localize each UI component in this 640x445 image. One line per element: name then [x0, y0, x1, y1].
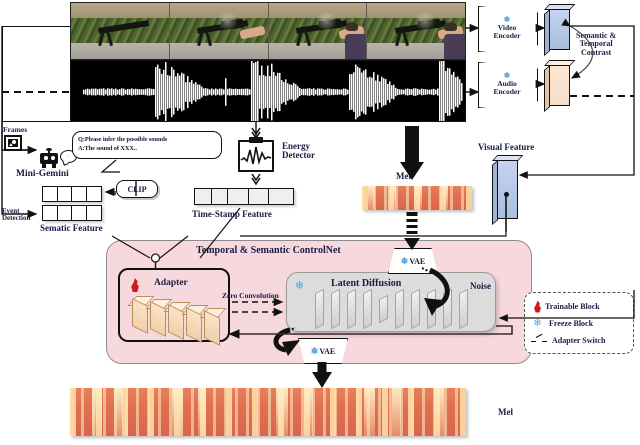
flame-icon: [130, 278, 140, 292]
audio-encoder-label-2: Encoder: [493, 88, 520, 96]
vae-bottom-label: VAE: [319, 347, 335, 356]
legend-label-switch: Adapter Switch: [552, 336, 605, 345]
controlnet-title: Temporal & Semantic ControlNet: [196, 246, 341, 257]
snowflake-icon: ❄: [311, 347, 319, 356]
semantic-temporal-contrast-label: Semantic & Temporal Contrast: [576, 32, 616, 57]
timestamp-feature-row: [194, 188, 294, 205]
snowflake-icon: ❄: [295, 281, 304, 292]
vae-top-block[interactable]: ❄ VAE: [388, 248, 438, 274]
mel-spectrogram-top: [362, 186, 472, 210]
speech-line-1: Q:Please infer the possible sounds: [78, 135, 216, 144]
legend-item-freeze: ❄ Freeze Block: [531, 315, 627, 332]
mel-label-top: Mel: [396, 172, 411, 181]
legend-item-switch: Adapter Switch: [531, 332, 627, 349]
legend-item-trainable: Trainable Block: [531, 298, 627, 315]
video-encoder-label-2: Encoder: [493, 32, 520, 40]
mel-label-bottom: Mel: [498, 408, 513, 417]
flame-icon: [533, 301, 542, 313]
video-encoder-block[interactable]: ❄ Video Encoder: [478, 6, 536, 50]
contrast-line-3: Contrast: [576, 49, 616, 57]
clip-block[interactable]: CLIP: [116, 180, 158, 198]
video-frame: [367, 3, 465, 59]
semantic-feature-row-2: [42, 205, 102, 221]
semantic-feature-row-1: [42, 186, 102, 202]
energy-detector-label: Energy Detector: [282, 142, 315, 161]
robot-icon: [38, 150, 60, 168]
audio-encoder-block[interactable]: ❄ Audio Encoder: [478, 62, 536, 106]
vae-bottom-block[interactable]: ❄ VAE: [298, 338, 348, 364]
video-frame: [71, 3, 170, 59]
latent-diffusion-label: Latent Diffusion: [331, 279, 401, 290]
image-icon: [4, 135, 22, 151]
event-detection-line-2: Detection: [2, 215, 30, 222]
mel-spectrogram-bottom: [70, 388, 466, 436]
snowflake-icon: ❄: [401, 257, 409, 266]
visual-feature-anchor-dot: [504, 192, 509, 197]
audio-feature-slab: [544, 60, 570, 106]
energy-detector-block[interactable]: [238, 140, 274, 172]
event-detection-label: Event Detection: [2, 208, 30, 223]
video-frames-strip: [70, 2, 466, 60]
waveform-icon: [240, 142, 272, 170]
energy-detector-line-2: Detector: [282, 151, 315, 160]
visual-feature-slab: [492, 155, 518, 219]
audio-waveform: [70, 60, 466, 122]
semantic-feature-label: Sematic Feature: [40, 224, 103, 233]
video-frame: [170, 3, 269, 59]
timestamp-feature-label: Time-Stamp Feature: [192, 210, 272, 219]
vae-top-label: VAE: [409, 257, 425, 266]
mini-gemini-label: Mini-Gemini: [16, 170, 69, 180]
speech-bubble: Q:Please infer the possible sounds A:The…: [72, 131, 222, 159]
latent-diffusion-block[interactable]: ❄ Latent Diffusion: [286, 272, 496, 332]
speech-line-2: A:The sound of XXX..: [78, 144, 216, 153]
switch-icon: [531, 336, 547, 346]
adapter-cards: [130, 296, 222, 338]
clip-label: CLIP: [127, 185, 146, 194]
video-feature-slab: [544, 4, 570, 50]
zero-convolution-label: Zero Convolution: [222, 292, 279, 300]
video-frame: [269, 3, 368, 59]
adapter-block[interactable]: Adapter: [118, 268, 230, 342]
snowflake-icon: ❄: [531, 319, 544, 329]
legend-label-trainable: Trainable Block: [545, 302, 600, 311]
legend-panel: Trainable Block ❄ Freeze Block Adapter S…: [524, 292, 634, 354]
frames-label: Frames: [3, 126, 27, 134]
noise-label: Noise: [470, 282, 491, 291]
visual-feature-label: Visual Feature: [478, 143, 534, 152]
adapter-label: Adapter: [154, 279, 188, 289]
legend-label-freeze: Freeze Block: [549, 319, 593, 328]
